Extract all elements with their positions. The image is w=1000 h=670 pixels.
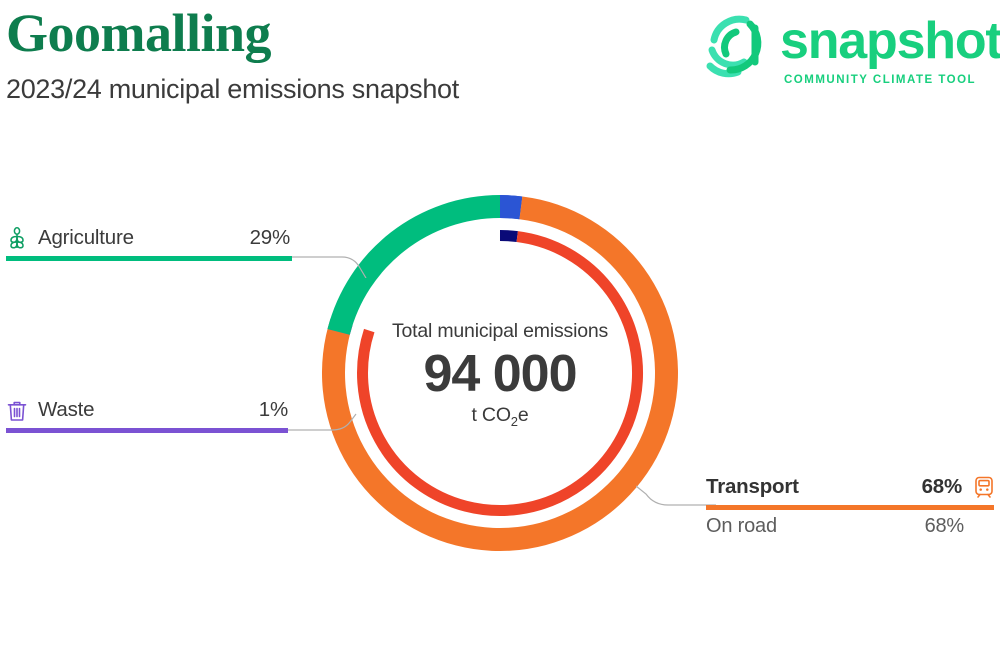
spiral-swirl-icon xyxy=(700,10,770,82)
page-title: Goomalling xyxy=(6,2,271,64)
legend-bar-agriculture xyxy=(6,256,292,261)
donut-slice-agriculture[interactable] xyxy=(327,195,500,335)
legend-item-agriculture[interactable]: Agriculture 29% xyxy=(0,226,300,256)
donut-center-text: Total municipal emissions 94 000 t CO2e xyxy=(330,320,670,429)
legend-bar-waste xyxy=(6,428,288,433)
legend-label-agriculture: Agriculture xyxy=(38,226,134,250)
legend-value-agriculture: 29% xyxy=(250,226,290,250)
brand-tagline: COMMUNITY CLIMATE TOOL xyxy=(784,74,976,86)
legend-bar-transport xyxy=(706,505,994,510)
legend-label-transport: Transport xyxy=(706,475,799,499)
donut-center-label: Total municipal emissions xyxy=(330,320,670,343)
legend-label-waste: Waste xyxy=(38,398,94,422)
legend-value-waste: 1% xyxy=(259,398,288,422)
brand-logo: snapshot COMMUNITY CLIMATE TOOL xyxy=(688,4,1000,94)
donut-center-unit: t CO2e xyxy=(330,404,670,429)
donut-center-value: 94 000 xyxy=(330,345,670,403)
unit-suffix: e xyxy=(518,404,529,426)
legend-subvalue-on-road: 68% xyxy=(925,515,964,538)
page-subtitle: 2023/24 municipal emissions snapshot xyxy=(6,72,459,106)
legend-item-transport[interactable]: Transport 68% On road 68% xyxy=(700,475,1000,505)
legend-sublabel-on-road: On road xyxy=(706,515,777,538)
unit-subscript: 2 xyxy=(511,414,518,429)
legend-item-waste[interactable]: Waste 1% xyxy=(0,398,300,428)
brand-wordmark: snapshot xyxy=(780,12,1000,70)
donut-slice-stationary-energy-band xyxy=(500,195,522,219)
unit-prefix: t CO xyxy=(472,404,511,426)
donut-inner-slice-electricity[interactable] xyxy=(500,236,517,237)
legend-value-transport: 68% xyxy=(922,475,962,499)
